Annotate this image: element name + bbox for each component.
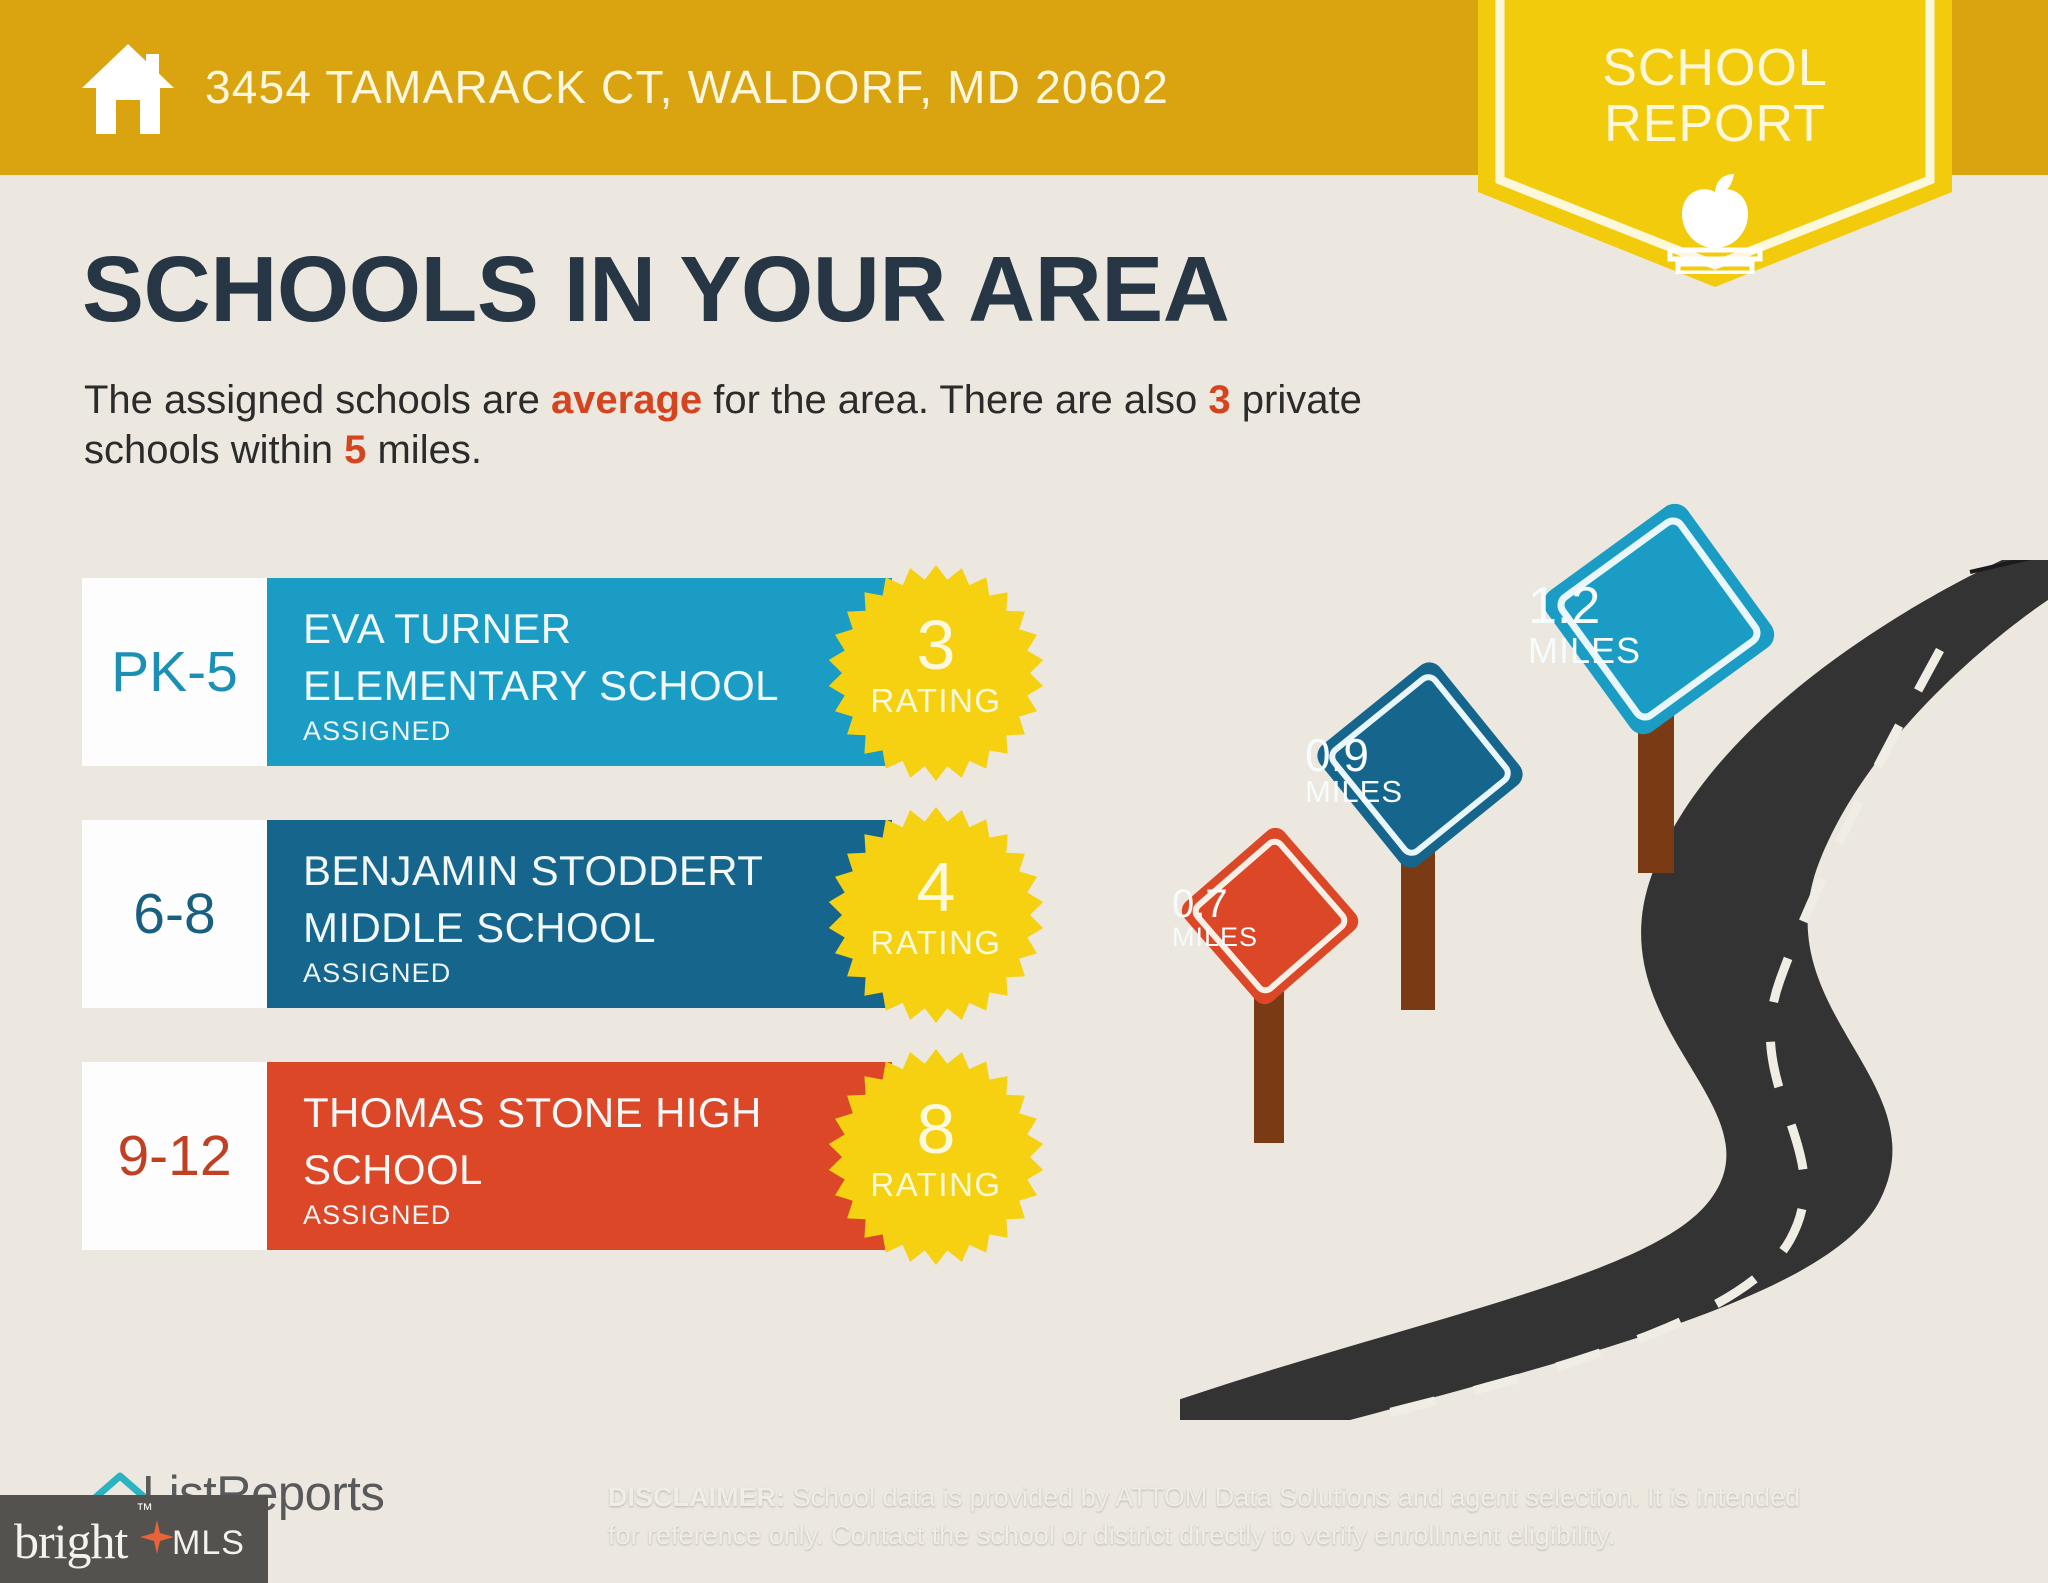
school-list: PK-5 EVA TURNER ELEMENTARY SCHOOL ASSIGN… [82, 578, 1142, 1304]
school-name-line-1: THOMAS STONE HIGH [303, 1084, 892, 1141]
apple-on-books-icon [1658, 174, 1772, 274]
rating-badge: 8 RATING [827, 1048, 1045, 1266]
rating-value: 4 [827, 852, 1045, 922]
rating-value: 8 [827, 1094, 1045, 1164]
school-status: ASSIGNED [303, 1200, 892, 1231]
school-row[interactable]: PK-5 EVA TURNER ELEMENTARY SCHOOL ASSIGN… [82, 578, 1142, 766]
school-row[interactable]: 6-8 BENJAMIN STODDERT MIDDLE SCHOOL ASSI… [82, 820, 1142, 1008]
subtitle-highlight-average: average [551, 378, 702, 422]
trademark-symbol: ™ [136, 1500, 153, 1520]
rating-badge: 4 RATING [827, 806, 1045, 1024]
subtitle-highlight-count: 3 [1208, 378, 1230, 422]
rating-label: RATING [827, 924, 1045, 962]
badge-title: SCHOOL REPORT [1478, 40, 1952, 152]
school-row[interactable]: 9-12 THOMAS STONE HIGH SCHOOL ASSIGNED 8… [82, 1062, 1142, 1250]
school-report-badge: SCHOOL REPORT [1478, 0, 1952, 287]
disclaimer-line-2: for reference only. Contact the school o… [608, 1520, 1615, 1550]
grade-range-badge: 6-8 [82, 820, 267, 1008]
subtitle-part-4: miles. [366, 428, 482, 472]
grade-range-badge: PK-5 [82, 578, 267, 766]
page-subtitle: The assigned schools are average for the… [84, 375, 1464, 475]
school-info-bar: THOMAS STONE HIGH SCHOOL ASSIGNED [267, 1062, 892, 1250]
school-report-infographic: 3454 TAMARACK CT, WALDORF, MD 20602 SCHO… [0, 0, 2048, 1583]
subtitle-part-2: for the area. There are also [702, 378, 1208, 422]
rating-label: RATING [827, 1166, 1045, 1204]
disclaimer-line-1: School data is provided by ATTOM Data So… [785, 1482, 1800, 1512]
home-icon [78, 38, 178, 138]
school-name-line-1: BENJAMIN STODDERT [303, 842, 892, 899]
page-title: SCHOOLS IN YOUR AREA [82, 236, 1229, 343]
disclaimer-label: DISCLAIMER: [608, 1482, 785, 1512]
school-name-line-2: MIDDLE SCHOOL [303, 899, 892, 956]
spark-icon [140, 1520, 174, 1554]
subtitle-highlight-radius: 5 [344, 428, 366, 472]
school-name-line-2: ELEMENTARY SCHOOL [303, 657, 892, 714]
rating-badge: 3 RATING [827, 564, 1045, 782]
school-name-line-2: SCHOOL [303, 1141, 892, 1198]
bright-mls-brand: bright [14, 1512, 127, 1570]
disclaimer-text: DISCLAIMER: School data is provided by A… [608, 1478, 2028, 1554]
subtitle-part-1: The assigned schools are [84, 378, 551, 422]
bright-mls-suffix: MLS [172, 1524, 245, 1563]
property-address: 3454 TAMARACK CT, WALDORF, MD 20602 [205, 60, 1169, 114]
school-name-line-1: EVA TURNER [303, 600, 892, 657]
road-scene: 1.2 MILES 0.9 MILES 0. [1180, 560, 2048, 1420]
grade-range-badge: 9-12 [82, 1062, 267, 1250]
school-status: ASSIGNED [303, 716, 892, 747]
school-info-bar: BENJAMIN STODDERT MIDDLE SCHOOL ASSIGNED [267, 820, 892, 1008]
school-info-bar: EVA TURNER ELEMENTARY SCHOOL ASSIGNED [267, 578, 892, 766]
badge-line-1: SCHOOL [1478, 40, 1952, 96]
school-status: ASSIGNED [303, 958, 892, 989]
rating-label: RATING [827, 682, 1045, 720]
rating-value: 3 [827, 610, 1045, 680]
badge-line-2: REPORT [1478, 96, 1952, 152]
